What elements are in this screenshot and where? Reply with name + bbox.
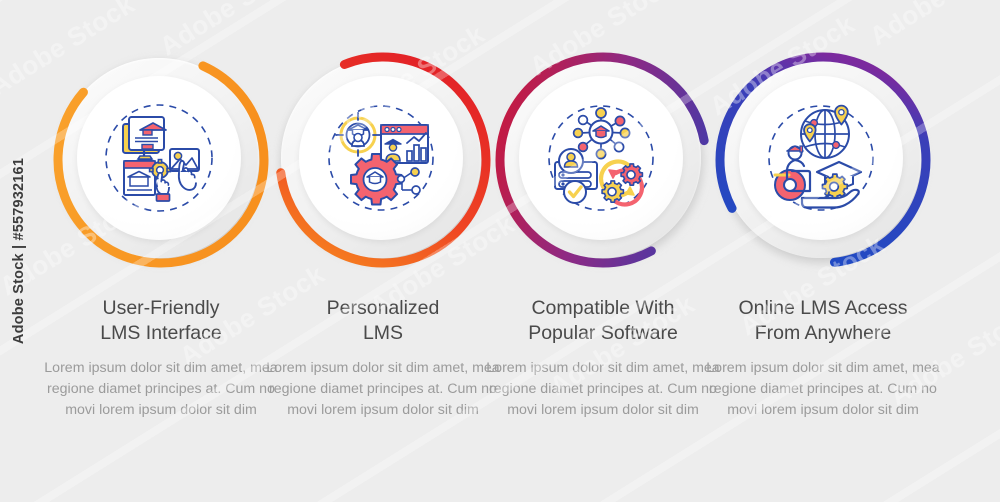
step-card-1[interactable]: User-Friendly LMS Interface Lorem ipsum … (36, 0, 286, 502)
step-description: Lorem ipsum dolor sit dim amet, mea regi… (36, 358, 286, 421)
step-title: Compatible With Popular Software (478, 296, 728, 346)
step-text-1: User-Friendly LMS Interface Lorem ipsum … (36, 296, 286, 421)
progress-ring-1 (53, 52, 269, 268)
stock-credit-text: Adobe Stock | #557932161 (11, 158, 27, 344)
step-card-2[interactable]: Personalized LMS Lorem ipsum dolor sit d… (258, 0, 508, 502)
step-title: Personalized LMS (258, 296, 508, 346)
circle-graphic-4 (715, 52, 931, 268)
step-card-4[interactable]: Online LMS Access From Anywhere Lorem ip… (698, 0, 948, 502)
infographic-root: User-Friendly LMS Interface Lorem ipsum … (0, 0, 1000, 502)
step-text-3: Compatible With Popular Software Lorem i… (478, 296, 728, 421)
progress-ring-3 (495, 52, 711, 268)
step-description: Lorem ipsum dolor sit dim amet, mea regi… (478, 358, 728, 421)
step-description: Lorem ipsum dolor sit dim amet, mea regi… (258, 358, 508, 421)
circle-graphic-2 (275, 52, 491, 268)
step-title: User-Friendly LMS Interface (36, 296, 286, 346)
stock-credit-strip: Adobe Stock | #557932161 (2, 0, 36, 502)
step-card-3[interactable]: Compatible With Popular Software Lorem i… (478, 0, 728, 502)
step-text-2: Personalized LMS Lorem ipsum dolor sit d… (258, 296, 508, 421)
circle-graphic-1 (53, 52, 269, 268)
step-text-4: Online LMS Access From Anywhere Lorem ip… (698, 296, 948, 421)
progress-ring-2 (275, 52, 491, 268)
progress-ring-4 (715, 52, 931, 268)
step-description: Lorem ipsum dolor sit dim amet, mea regi… (698, 358, 948, 421)
step-title: Online LMS Access From Anywhere (698, 296, 948, 346)
circle-graphic-3 (495, 52, 711, 268)
